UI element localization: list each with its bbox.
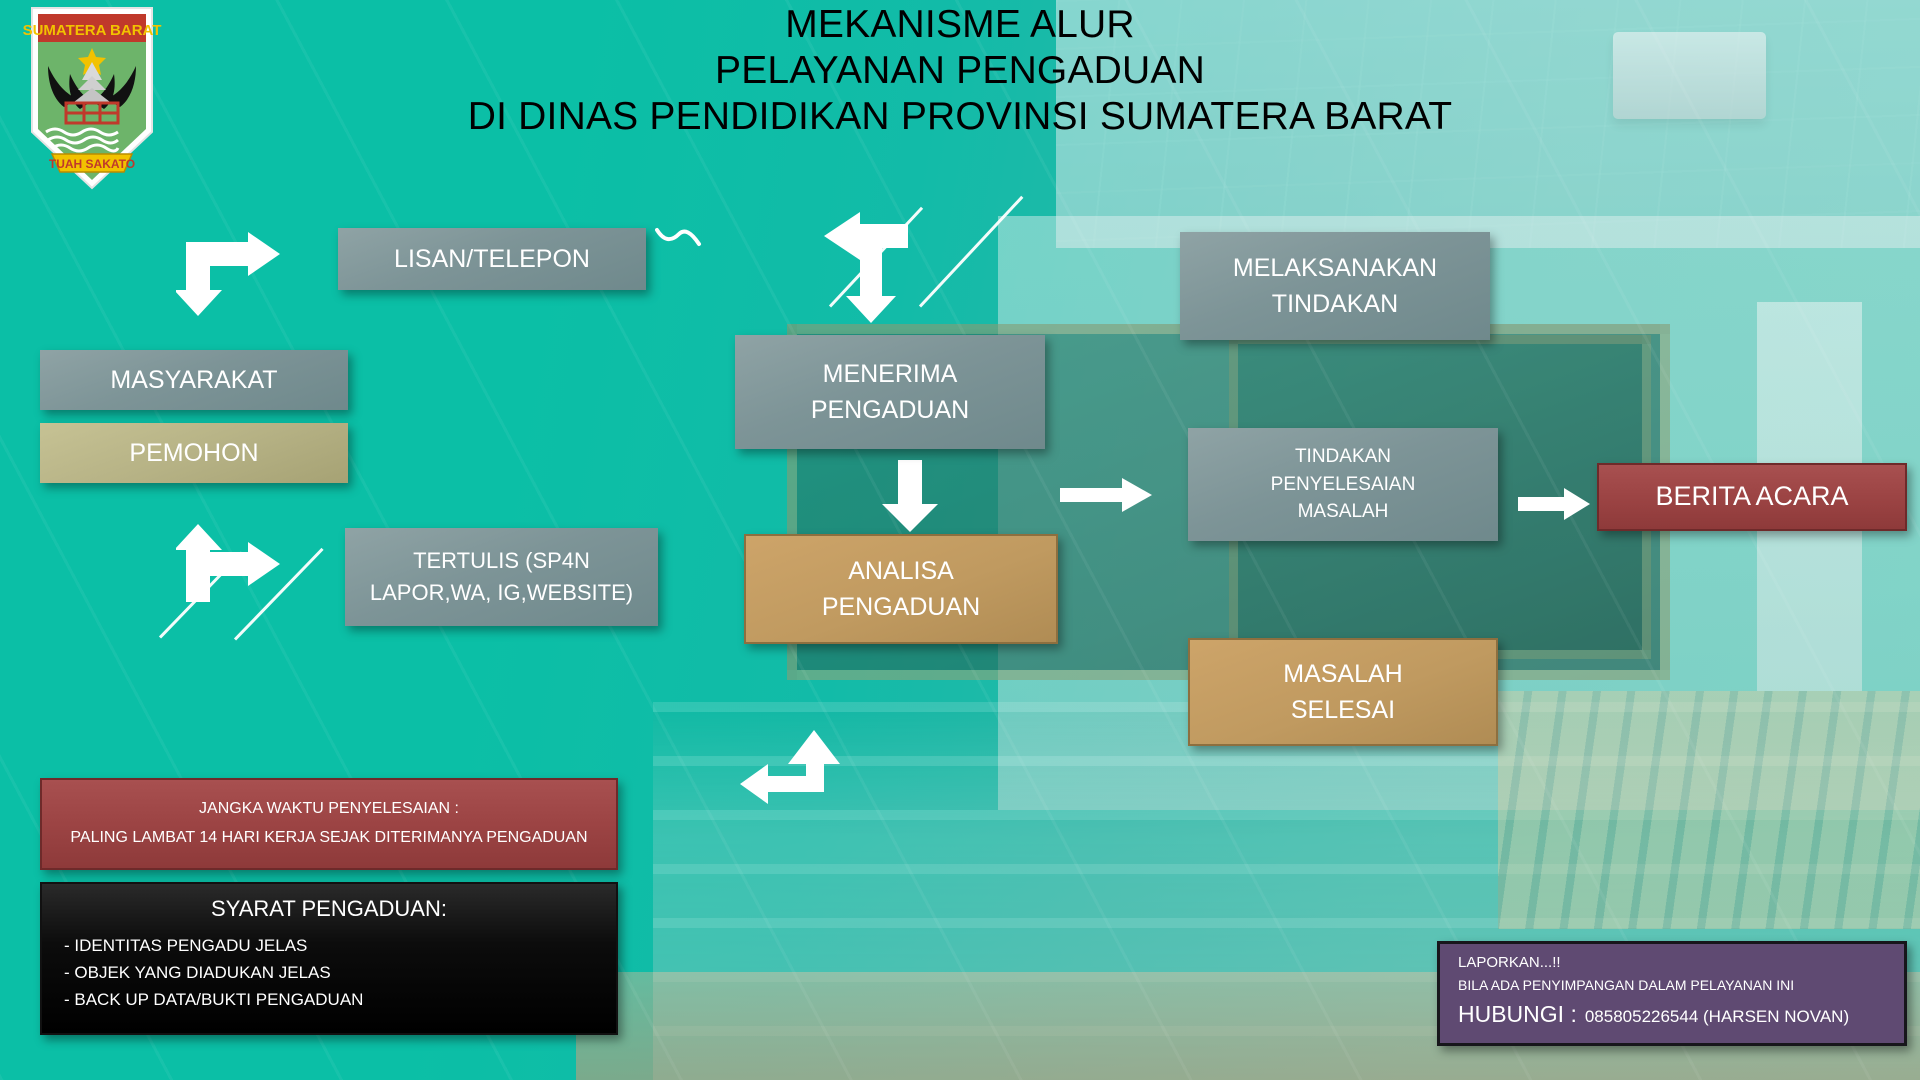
node-melaksanakan-tindakan[interactable]: MELAKSANAKAN TINDAKAN [1180, 232, 1490, 340]
arrow-down-right-to-lisan [176, 232, 286, 317]
node-tertulis[interactable]: TERTULIS (SP4N LAPOR,WA, IG,WEBSITE) [345, 528, 658, 626]
kontak-hubungi-label: HUBUNGI : [1458, 1001, 1577, 1028]
node-menerima-line-2: PENGADUAN [735, 392, 1045, 428]
node-tindakan-penyelesaian-masalah[interactable]: TINDAKAN PENYELESAIAN MASALAH [1188, 428, 1498, 541]
jangka-waktu-line-1: JANGKA WAKTU PENYELESAIAN : [42, 795, 616, 824]
panel-jangka-waktu: JANGKA WAKTU PENYELESAIAN : PALING LAMBA… [40, 778, 618, 870]
node-analisa-line-1: ANALISA [746, 553, 1056, 589]
node-berita-acara-label: BERITA ACARA [1599, 477, 1905, 516]
node-menerima-pengaduan[interactable]: MENERIMA PENGADUAN [735, 335, 1045, 449]
title-line-3: DI DINAS PENDIDIKAN PROVINSI SUMATERA BA… [300, 94, 1620, 140]
emblem-top-banner-text: SUMATERA BARAT [23, 22, 162, 39]
node-melaksanakan-line-1: MELAKSANAKAN [1180, 250, 1490, 286]
arrow-down-menerima-to-analisa [880, 460, 940, 532]
node-tindakan-line-2: PENYELESAIAN [1188, 471, 1498, 499]
node-masalah-selesai[interactable]: MASALAH SELESAI [1188, 638, 1498, 746]
title-line-1: MEKANISME ALUR [300, 2, 1620, 48]
node-berita-acara[interactable]: BERITA ACARA [1597, 463, 1907, 531]
node-melaksanakan-line-2: TINDAKAN [1180, 286, 1490, 322]
node-masyarakat-label: MASYARAKAT [40, 362, 348, 398]
node-masalah-line-1: MASALAH [1190, 656, 1496, 692]
node-masyarakat[interactable]: MASYARAKAT [40, 350, 348, 410]
title-line-2: PELAYANAN PENGADUAN [300, 48, 1620, 94]
arrow-left-down-to-menerima [820, 210, 940, 325]
node-analisa-line-2: PENGADUAN [746, 589, 1056, 625]
node-pemohon-label: PEMOHON [40, 435, 348, 471]
syarat-item-3: - BACK UP DATA/BUKTI PENGADUAN [64, 986, 594, 1013]
syarat-item-1: - IDENTITAS PENGADU JELAS [64, 932, 594, 959]
arrow-right-analisa-to-tindakan [1060, 478, 1152, 512]
panel-syarat-pengaduan: SYARAT PENGADUAN: - IDENTITAS PENGADU JE… [40, 882, 618, 1035]
node-menerima-line-1: MENERIMA [735, 356, 1045, 392]
node-tindakan-line-1: TINDAKAN [1188, 443, 1498, 471]
sumatera-barat-emblem-icon: SUMATERA BARAT TUAH SAKATO [22, 4, 162, 192]
syarat-heading: SYARAT PENGADUAN: [64, 896, 594, 922]
jangka-waktu-line-2: PALING LAMBAT 14 HARI KERJA SEJAK DITERI… [42, 824, 616, 853]
emblem-ribbon-text: TUAH SAKATO [49, 157, 135, 171]
desks-right-region [1498, 691, 1920, 929]
arrow-right-tindakan-to-berita [1518, 488, 1590, 520]
node-pemohon[interactable]: PEMOHON [40, 423, 348, 483]
node-tertulis-line-1: TERTULIS (SP4N [345, 545, 658, 577]
page-title: MEKANISME ALUR PELAYANAN PENGADUAN DI DI… [300, 2, 1620, 140]
swoosh-accent-right [655, 222, 703, 252]
node-analisa-pengaduan[interactable]: ANALISA PENGADUAN [744, 534, 1058, 644]
panel-kontak: LAPORKAN...!! BILA ADA PENYIMPANGAN DALA… [1437, 941, 1907, 1046]
kontak-line-2: BILA ADA PENYIMPANGAN DALAM PELAYANAN IN… [1458, 977, 1886, 993]
arrow-up-left-return [740, 720, 855, 815]
projector-icon [1613, 32, 1767, 118]
node-lisan-label: LISAN/TELEPON [338, 241, 646, 277]
syarat-item-2: - OBJEK YANG DIADUKAN JELAS [64, 959, 594, 986]
kontak-phone-value[interactable]: 085805226544 (HARSEN NOVAN) [1585, 1007, 1849, 1027]
node-tertulis-line-2: LAPOR,WA, IG,WEBSITE) [345, 577, 658, 609]
node-masalah-line-2: SELESAI [1190, 692, 1496, 728]
node-lisan-telepon[interactable]: LISAN/TELEPON [338, 228, 646, 290]
kontak-line-1: LAPORKAN...!! [1458, 954, 1886, 971]
node-tindakan-line-3: MASALAH [1188, 498, 1498, 526]
